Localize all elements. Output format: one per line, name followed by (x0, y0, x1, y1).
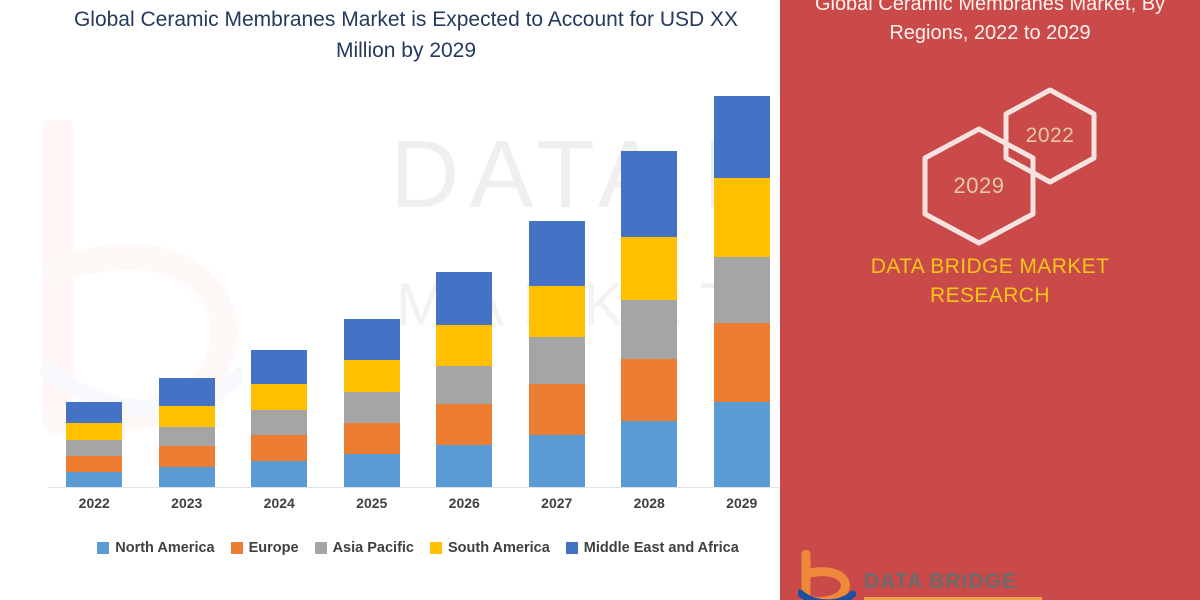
legend-label: Asia Pacific (333, 540, 414, 556)
footer-logo: DATA BRIDGE (798, 546, 1058, 600)
bar-column (344, 96, 400, 488)
legend-swatch-icon (430, 542, 442, 554)
x-axis-tick-label: 2028 (621, 495, 677, 511)
panel-brand-line-2: RESEARCH (780, 281, 1200, 310)
bar-segment-south-america (66, 423, 122, 440)
legend-label: North America (115, 540, 214, 556)
bar-segment-north-america (436, 445, 492, 488)
bar-segment-asia-pacific (714, 257, 770, 324)
bar-column (251, 96, 307, 488)
bar-segment-south-america (436, 325, 492, 366)
legend-item-south-america[interactable]: South America (430, 540, 550, 556)
bar-group (48, 96, 788, 488)
bar-segment-south-america (714, 178, 770, 256)
bar-segment-middle-east-and-africa (251, 350, 307, 384)
x-axis-tick-label: 2027 (529, 495, 585, 511)
legend-label: South America (448, 540, 550, 556)
chart-canvas: DATA BRIDGE MARKET RESEARCH Global Ceram… (0, 0, 1200, 600)
bar-segment-asia-pacific (529, 337, 585, 384)
bar-column (714, 96, 770, 488)
legend-swatch-icon (97, 542, 109, 554)
bar-segment-europe (251, 435, 307, 461)
bar-column (159, 96, 215, 488)
x-axis-tick-label: 2029 (714, 495, 770, 511)
panel-title: Global Ceramic Membranes Market, By Regi… (780, 0, 1200, 48)
x-axis-tick-label: 2025 (344, 495, 400, 511)
bar-segment-europe (529, 384, 585, 435)
legend-label: Europe (249, 540, 299, 556)
bar-segment-asia-pacific (344, 392, 400, 423)
side-panel: Global Ceramic Membranes Market, By Regi… (780, 0, 1200, 600)
x-axis-tick-label: 2022 (66, 495, 122, 511)
bar-segment-north-america (159, 467, 215, 488)
bar-segment-south-america (159, 406, 215, 427)
plot-area (48, 96, 788, 488)
bar-segment-south-america (529, 286, 585, 337)
panel-brand: DATA BRIDGE MARKET RESEARCH (780, 252, 1200, 310)
bar-column (621, 96, 677, 488)
bar-segment-middle-east-and-africa (159, 378, 215, 405)
bar-segment-middle-east-and-africa (66, 402, 122, 423)
legend-item-europe[interactable]: Europe (231, 540, 299, 556)
bar-segment-europe (66, 456, 122, 472)
panel-brand-line-1: DATA BRIDGE MARKET (780, 252, 1200, 281)
bar-segment-europe (344, 423, 400, 454)
bar-segment-south-america (251, 384, 307, 411)
bar-segment-asia-pacific (436, 366, 492, 404)
bar-segment-europe (436, 404, 492, 445)
legend-item-middle-east-and-africa[interactable]: Middle East and Africa (566, 540, 739, 556)
bar-segment-asia-pacific (66, 440, 122, 456)
chart-title: Global Ceramic Membranes Market is Expec… (46, 4, 766, 66)
bar-segment-north-america (344, 454, 400, 488)
legend-item-north-america[interactable]: North America (97, 540, 214, 556)
hexagon-2029-label: 2029 (920, 124, 1038, 248)
legend-label: Middle East and Africa (584, 540, 739, 556)
bar-column (529, 96, 585, 488)
bar-segment-europe (159, 446, 215, 466)
b-logo-icon (798, 550, 856, 600)
bar-segment-north-america (714, 402, 770, 488)
bar-segment-north-america (621, 421, 677, 488)
bar-segment-north-america (66, 472, 122, 488)
bar-segment-south-america (344, 360, 400, 392)
bar-segment-middle-east-and-africa (714, 96, 770, 178)
bar-segment-middle-east-and-africa (436, 272, 492, 325)
bar-segment-asia-pacific (621, 300, 677, 359)
legend-swatch-icon (315, 542, 327, 554)
legend-item-asia-pacific[interactable]: Asia Pacific (315, 540, 414, 556)
x-axis-line (48, 487, 798, 488)
chart-legend: North AmericaEuropeAsia PacificSouth Ame… (48, 540, 788, 556)
bar-segment-asia-pacific (159, 427, 215, 447)
x-axis-tick-label: 2026 (436, 495, 492, 511)
bar-segment-middle-east-and-africa (529, 221, 585, 285)
bar-segment-asia-pacific (251, 410, 307, 434)
hexagon-group: 2022 2029 (780, 92, 1200, 242)
legend-swatch-icon (231, 542, 243, 554)
bar-segment-middle-east-and-africa (344, 319, 400, 360)
footer-logo-text: DATA BRIDGE (864, 570, 1017, 594)
x-axis-labels: 20222023202420252026202720282029 (48, 495, 788, 511)
hexagon-2029: 2029 (920, 124, 1038, 248)
bar-segment-europe (714, 323, 770, 401)
bar-segment-middle-east-and-africa (621, 151, 677, 237)
legend-swatch-icon (566, 542, 578, 554)
bar-column (436, 96, 492, 488)
bar-segment-europe (621, 359, 677, 422)
bar-column (66, 96, 122, 488)
x-axis-tick-label: 2024 (251, 495, 307, 511)
bar-segment-north-america (251, 461, 307, 488)
x-axis-tick-label: 2023 (159, 495, 215, 511)
bar-segment-south-america (621, 237, 677, 300)
bar-segment-north-america (529, 435, 585, 488)
